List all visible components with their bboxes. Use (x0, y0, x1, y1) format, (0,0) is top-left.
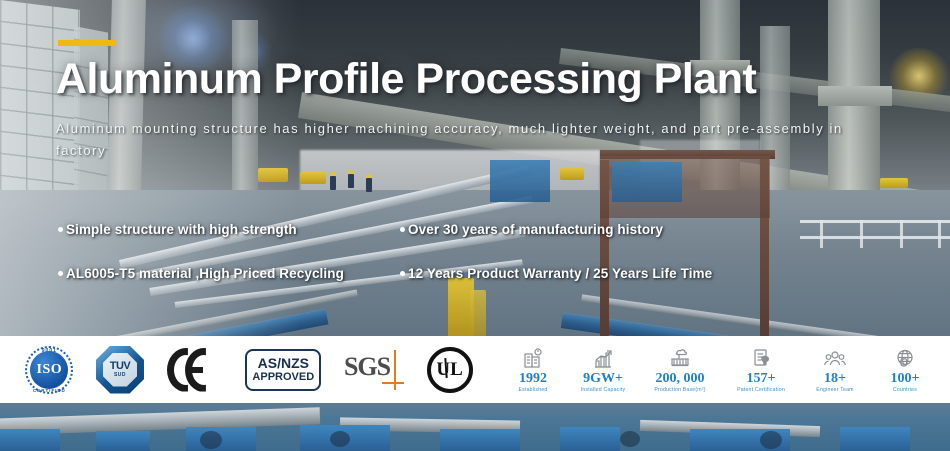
globe-hand-icon (894, 346, 916, 368)
bullet-dot-icon (400, 227, 405, 232)
list-item: AL6005-T5 material ,High Priced Recyclin… (58, 266, 344, 281)
hero-banner: Aluminum Profile Processing Plant Alumin… (0, 0, 950, 451)
bullet-text: Simple structure with high strength (66, 222, 297, 237)
roller-hub (620, 431, 640, 447)
approved-label: APPROVED (252, 371, 314, 383)
stat-item-production-base: 200, 000 Production Base(m²) (638, 346, 722, 393)
ce-mark-icon (167, 348, 223, 392)
feature-bullet-list: Simple structure with high strength AL60… (0, 210, 950, 300)
patent-document-icon (750, 346, 772, 368)
stat-label: Engineer Team (816, 387, 853, 393)
stat-value: 100+ (891, 371, 920, 386)
roller-hub (760, 431, 782, 449)
blue-machine (840, 427, 910, 451)
roller-hub (330, 431, 350, 447)
bullet-dot-icon (58, 227, 63, 232)
bullet-text: 12 Years Product Warranty / 25 Years Lif… (408, 266, 712, 281)
stat-item-patent-certification: 157+ Patent Certification (722, 346, 800, 393)
ul-certification-icon: UL (427, 347, 473, 393)
asnzs-label: AS/NZS (258, 356, 309, 371)
accent-bar (58, 40, 116, 46)
blue-machine (0, 429, 60, 451)
stat-value: 157+ (747, 371, 776, 386)
ul-label: UL (436, 359, 462, 381)
people-group-icon (823, 346, 847, 368)
certification-stats-bar: 9001 ISO CERTIFIED TUV SUD AS/NZS APPROV… (0, 336, 950, 403)
tuv-sud-certification-icon: TUV SUD (96, 346, 144, 394)
stat-item-installed-capacity: 9GW+ Installed Capacity (568, 346, 638, 393)
bullet-text: Over 30 years of manufacturing history (408, 222, 663, 237)
stat-value: 18+ (824, 371, 846, 386)
list-item: 12 Years Product Warranty / 25 Years Lif… (400, 266, 712, 281)
iso-certification-icon: 9001 ISO CERTIFIED (25, 346, 73, 394)
certification-logo-group: 9001 ISO CERTIFIED TUV SUD AS/NZS APPROV… (0, 336, 498, 403)
blue-machine (560, 427, 620, 451)
company-stats-group: 1992 Established 9GW+ Installed Capacity (498, 336, 950, 403)
stat-value: 200, 000 (656, 371, 705, 386)
as-nzs-approved-icon: AS/NZS APPROVED (245, 349, 321, 391)
tuv-sud-label: SUD (114, 372, 126, 378)
stat-label: Patent Certification (737, 387, 785, 393)
sgs-certification-icon: SGS (344, 350, 404, 390)
stat-value: 9GW+ (583, 371, 623, 386)
stat-item-established: 1992 Established (498, 346, 568, 393)
bullet-dot-icon (58, 271, 63, 276)
blue-machine (96, 431, 150, 451)
page-subtitle: Aluminum mounting structure has higher m… (56, 118, 896, 162)
bar-chart-growth-icon (592, 346, 614, 368)
list-item: Simple structure with high strength (58, 222, 297, 237)
stat-label: Countries (893, 387, 917, 393)
roller-hub (200, 431, 222, 449)
page-title: Aluminum Profile Processing Plant (56, 55, 756, 104)
bullet-dot-icon (400, 271, 405, 276)
stat-item-countries: 100+ Countries (870, 346, 940, 393)
stat-label: Production Base(m²) (654, 387, 705, 393)
list-item: Over 30 years of manufacturing history (400, 222, 663, 237)
stat-label: Established (518, 387, 547, 393)
stat-item-engineer-team: 18+ Engineer Team (800, 346, 870, 393)
production-plant-icon (668, 346, 692, 368)
blue-machine (440, 429, 520, 451)
iso-label: ISO (37, 362, 63, 378)
stat-value: 1992 (519, 371, 547, 386)
stat-label: Installed Capacity (581, 387, 626, 393)
tuv-label: TUV (110, 361, 131, 372)
iso-certified-label: CERTIFIED (25, 388, 73, 393)
factory-building-icon (522, 346, 544, 368)
bullet-text: AL6005-T5 material ,High Priced Recyclin… (66, 266, 344, 281)
bottom-factory-strip (0, 403, 950, 451)
sgs-label: SGS (344, 352, 390, 382)
